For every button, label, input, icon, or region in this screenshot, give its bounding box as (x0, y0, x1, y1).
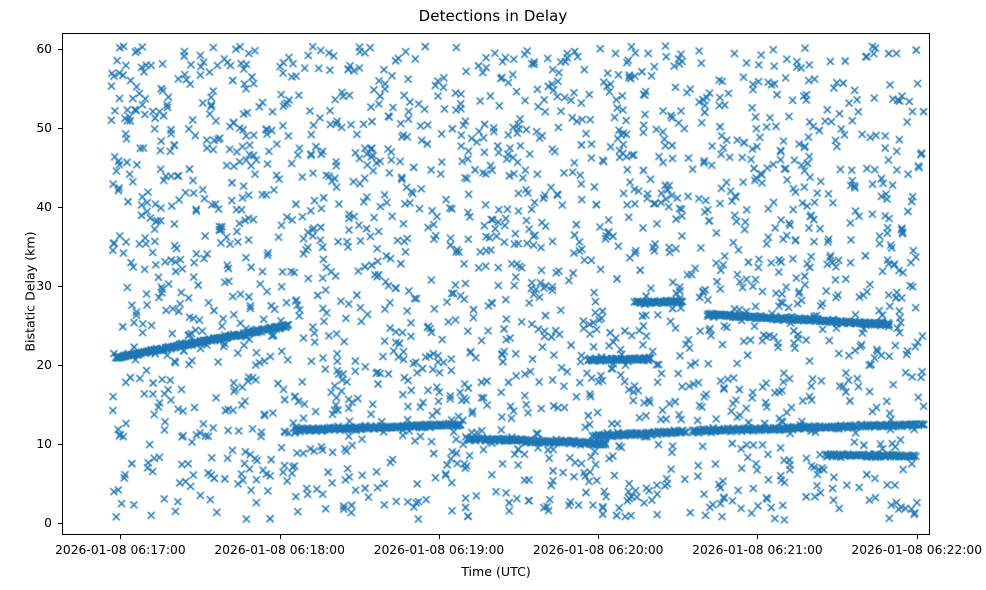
y-axis-label: Bistatic Delay (km) (23, 182, 38, 402)
page-title: Detections in Delay (0, 7, 986, 25)
y-tick-mark (58, 49, 62, 50)
y-tick-label: 60 (6, 42, 52, 56)
y-tick-mark (58, 523, 62, 524)
x-tick-mark (120, 535, 121, 539)
y-tick-mark (58, 128, 62, 129)
x-tick-label: 2026-01-08 06:19:00 (374, 543, 505, 557)
y-tick-label: 10 (6, 437, 52, 451)
y-tick-mark (58, 444, 62, 445)
x-tick-label: 2026-01-08 06:22:00 (851, 543, 982, 557)
x-tick-label: 2026-01-08 06:20:00 (533, 543, 664, 557)
x-tick-mark (280, 535, 281, 539)
x-tick-mark (917, 535, 918, 539)
y-tick-label: 0 (6, 516, 52, 530)
x-tick-label: 2026-01-08 06:17:00 (55, 543, 186, 557)
x-tick-mark (757, 535, 758, 539)
y-tick-label: 50 (6, 121, 52, 135)
x-tick-label: 2026-01-08 06:21:00 (692, 543, 823, 557)
plot-axes-area (62, 33, 930, 535)
y-tick-mark (58, 286, 62, 287)
matplotlib-figure: Detections in Delay 2026-01-08 06:17:002… (0, 0, 986, 590)
x-tick-mark (439, 535, 440, 539)
x-axis-label: Time (UTC) (62, 564, 930, 579)
y-tick-mark (58, 365, 62, 366)
x-tick-label: 2026-01-08 06:18:00 (214, 543, 345, 557)
x-tick-mark (598, 535, 599, 539)
y-tick-mark (58, 207, 62, 208)
scatter-plot-canvas (63, 34, 929, 534)
